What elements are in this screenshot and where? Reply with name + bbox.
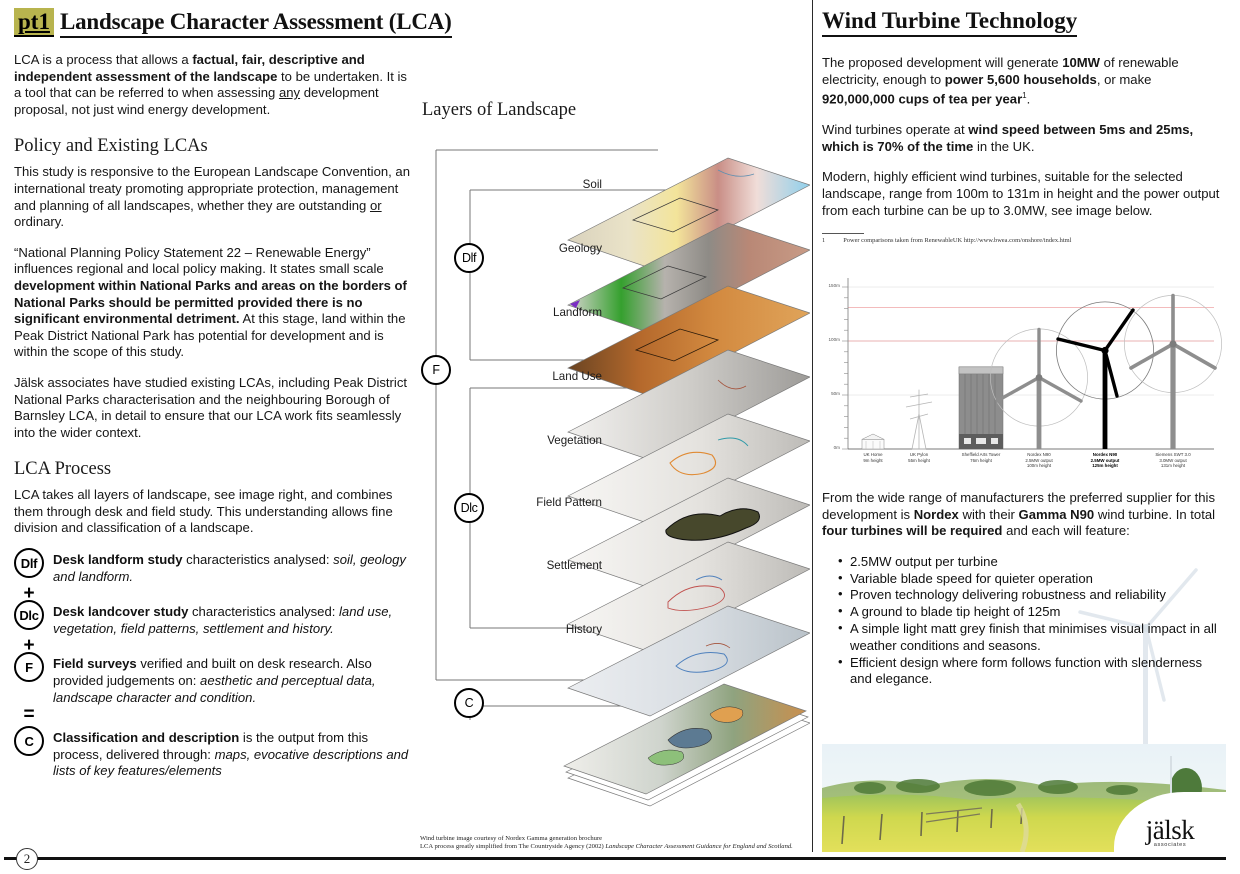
chart-item-uk-home (862, 434, 884, 449)
turbine-scale-chart: 0m 50m 100m 150m UK Home 9m height UK Py… (822, 264, 1226, 464)
policy-heading: Policy and Existing LCAs (14, 136, 414, 157)
process-step-c: C Classification and description is the … (14, 729, 414, 780)
diagram-badge-dlf: Dlf (454, 243, 484, 273)
right-column: Wind Turbine Technology The proposed dev… (822, 0, 1226, 874)
page-number: 2 (16, 848, 38, 870)
badge-c: C (14, 726, 44, 756)
chart-item-nordex-n90-100m (990, 329, 1087, 449)
chart-caption-siemens: Siemens SWT 3.0 3.0MW output 131m height (1133, 452, 1213, 469)
layers-diagram: Soil Geology Landform Land Use Vegetatio… (418, 120, 810, 820)
list-item: Efficient design where form follows func… (838, 655, 1226, 689)
diagram-badge-f: F (421, 355, 451, 385)
process-step-text: Desk landcover study characteristics ana… (53, 603, 414, 637)
badge-dlc: Dlc (14, 600, 44, 630)
layer-label-landform: Landform (482, 306, 602, 319)
layer-label-settlement: Settlement (482, 559, 602, 572)
y-tick-150m: 150m (822, 283, 840, 288)
policy-paragraph-3: Jälsk associates have studied existing L… (14, 375, 414, 441)
credit-line-1: Wind turbine image courtesy of Nordex Ga… (420, 835, 800, 844)
part-tag: pt1 (14, 8, 54, 37)
footer-rule (14, 857, 1226, 860)
y-tick-50m: 50m (822, 391, 840, 396)
right-paragraph-1: The proposed development will generate 1… (822, 55, 1226, 108)
layer-label-soil: Soil (482, 178, 602, 191)
badge-dlf: Dlf (14, 548, 44, 578)
chart-item-arts-tower (959, 367, 1003, 449)
process-step-text: Desk landform study characteristics anal… (53, 551, 414, 585)
chart-svg (822, 264, 1226, 464)
right-paragraph-3: Modern, highly efficient wind turbines, … (822, 169, 1226, 219)
right-paragraph-2: Wind turbines operate at wind speed betw… (822, 122, 1226, 155)
process-heading: LCA Process (14, 459, 414, 480)
footnote-text: Power comparisons taken from RenewableUK… (843, 237, 1071, 244)
footnote-marker: 1 (822, 237, 825, 244)
operator-plus-2: + (14, 640, 44, 652)
chart-item-siemens-swt30 (1124, 296, 1221, 450)
diagram-badge-dlc: Dlc (454, 493, 484, 523)
diagram-badge-c: C (454, 688, 484, 718)
y-tick-100m: 100m (822, 337, 840, 342)
process-step-text: Field surveys verified and built on desk… (53, 655, 414, 706)
layer-label-land-use: Land Use (482, 370, 602, 383)
left-title-row: pt1 Landscape Character Assessment (LCA) (14, 0, 414, 38)
operator-equals: = (14, 709, 44, 721)
logo-wordmark: jälsk (1146, 817, 1195, 843)
logo-tagline: associates (1154, 842, 1186, 848)
list-item: A ground to blade tip height of 125m (838, 604, 1226, 621)
chart-item-nordex-n90-125m (1056, 302, 1153, 449)
process-step-f: F Field surveys verified and built on de… (14, 655, 414, 706)
left-column: pt1 Landscape Character Assessment (LCA)… (14, 0, 414, 780)
image-credits: Wind turbine image courtesy of Nordex Ga… (420, 835, 800, 852)
intro-paragraph: LCA is a process that allows a factual, … (14, 52, 414, 118)
list-item: Proven technology delivering robustness … (838, 587, 1226, 604)
layer-label-vegetation: Vegetation (482, 434, 602, 447)
y-tick-0m: 0m (822, 445, 840, 450)
process-intro: LCA takes all layers of landscape, see i… (14, 487, 414, 537)
poster-page: pt1 Landscape Character Assessment (LCA)… (0, 0, 1240, 874)
policy-paragraph-1: This study is responsive to the European… (14, 164, 414, 230)
column-divider (812, 0, 813, 852)
page-title: Landscape Character Assessment (LCA) (60, 9, 452, 38)
credit-line-2: LCA process greatly simplified from The … (420, 843, 800, 852)
layer-label-field-pattern: Field Pattern (482, 496, 602, 509)
middle-column: Layers of Landscape (418, 0, 810, 874)
layer-label-history: History (482, 623, 602, 636)
list-item: Variable blade speed for quieter operati… (838, 571, 1226, 588)
right-paragraph-4: From the wide range of manufacturers the… (822, 490, 1226, 540)
list-item: 2.5MW output per turbine (838, 554, 1226, 571)
process-step-text: Classification and description is the ou… (53, 729, 414, 780)
turbine-feature-list: 2.5MW output per turbine Variable blade … (838, 554, 1226, 688)
process-step-dlf: Dlf Desk landform study characteristics … (14, 551, 414, 585)
badge-f: F (14, 652, 44, 682)
operator-plus-1: + (14, 588, 44, 600)
chart-item-uk-pylon (906, 390, 932, 449)
right-title: Wind Turbine Technology (822, 8, 1077, 37)
list-item: A simple light matt grey finish that min… (838, 621, 1226, 655)
layer-label-geology: Geology (482, 242, 602, 255)
policy-paragraph-2: “National Planning Policy Statement 22 –… (14, 245, 414, 361)
process-step-dlc: Dlc Desk landcover study characteristics… (14, 603, 414, 637)
footnote: 1 Power comparisons taken from Renewable… (822, 233, 1226, 244)
process-steps: Dlf Desk landform study characteristics … (14, 551, 414, 780)
